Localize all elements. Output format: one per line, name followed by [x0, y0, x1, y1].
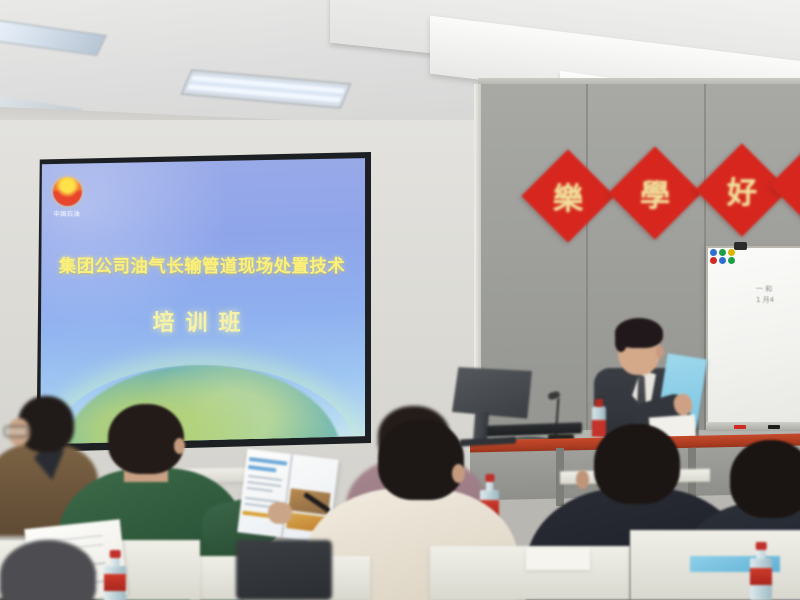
slide-subtitle: 培训班 [37, 305, 367, 337]
attendee-foreground-head [0, 540, 96, 600]
attendee-green-hand [268, 502, 292, 524]
water-bottle-right [750, 548, 772, 600]
attendee-suit2-head [730, 440, 800, 518]
attendee-suit1-head [594, 424, 680, 504]
attendee-green-ear [174, 438, 185, 454]
ceiling-light-fixture [181, 69, 352, 108]
whiteboard[interactable]: 一 和 1 月4 [706, 246, 800, 425]
petrochina-logo: 中国石油 [45, 177, 89, 225]
placard-char-1: 樂 [553, 174, 583, 218]
presenter-hair [615, 318, 663, 348]
eyeglasses-icon [4, 426, 28, 437]
conference-room-photo: 中国石油 集团公司油气长输管道现场处置技术 培训班 樂 學 好 一 和 1 月4 [0, 0, 800, 600]
attendee-green-head [108, 404, 184, 474]
slide-title: 集团公司油气长输管道现场处置技术 [37, 253, 367, 278]
presenter-ear [656, 346, 664, 358]
attendee-cream-ear [452, 464, 465, 483]
placard-char-3: 好 [727, 168, 757, 212]
attendee-cream-head [378, 420, 464, 500]
ceiling-light-fixture-left [0, 18, 107, 56]
whiteboard-handwriting-line-1: 一 和 [756, 284, 800, 295]
attendee-foreground [0, 540, 120, 600]
attendee-suit1-ear [576, 470, 589, 489]
whiteboard-handwriting: 一 和 1 月4 [756, 284, 800, 310]
notepad-right[interactable] [526, 548, 590, 570]
petrochina-logo-icon [53, 177, 82, 206]
whiteboard-magnets[interactable] [710, 249, 742, 265]
whiteboard-handwriting-line-2: 1 月4 [756, 295, 800, 306]
chair-foreground [236, 540, 332, 600]
petrochina-logo-label: 中国石油 [45, 209, 89, 218]
placard-char-2: 學 [640, 171, 670, 215]
